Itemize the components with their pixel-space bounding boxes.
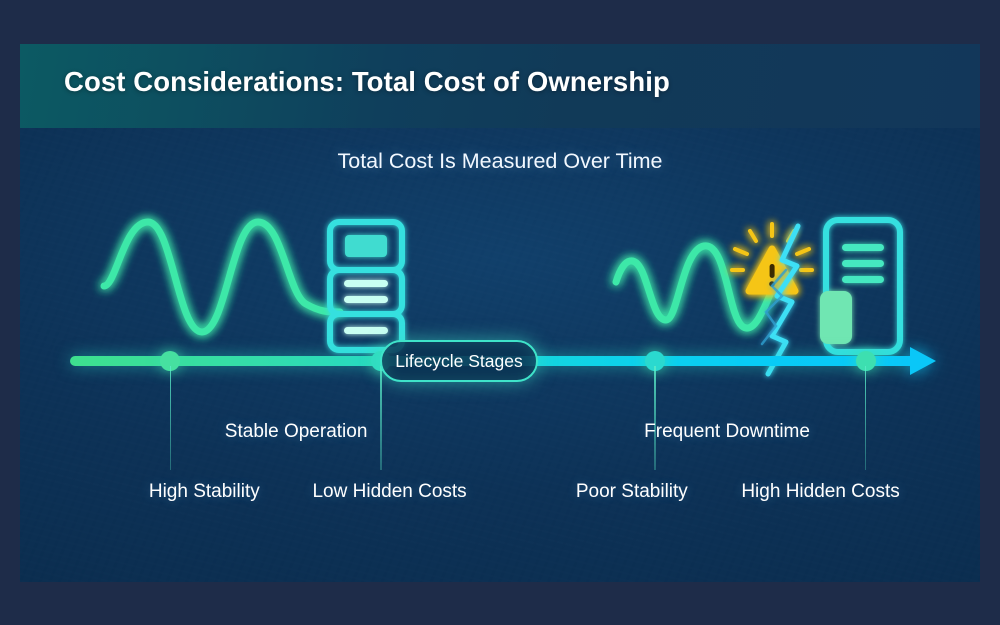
timeline-tick-high-hidden-costs	[865, 366, 867, 470]
arrow-right-icon	[910, 347, 936, 375]
server-rack-icon	[330, 222, 402, 350]
warning-triangle-icon	[732, 224, 812, 291]
stage-caption-1: Frequent Downtime	[644, 421, 810, 443]
endpoint-caption-3: High Hidden Costs	[741, 481, 899, 503]
endpoint-caption-2: Poor Stability	[576, 481, 688, 503]
lifecycle-stages-badge[interactable]: Lifecycle Stages	[380, 340, 538, 382]
timeline-tick-high-stability	[170, 366, 172, 470]
timeline-tick-low-hidden-costs	[380, 366, 382, 470]
smooth-sine-wave-icon	[104, 222, 340, 332]
document-icon	[820, 220, 900, 352]
slide-panel: Cost Considerations: Total Cost of Owner…	[20, 44, 980, 582]
endpoint-caption-1: Low Hidden Costs	[312, 481, 466, 503]
stage-caption-0: Stable Operation	[225, 421, 368, 443]
endpoint-caption-0: High Stability	[149, 481, 260, 503]
timeline-tick-poor-stability	[654, 366, 656, 470]
